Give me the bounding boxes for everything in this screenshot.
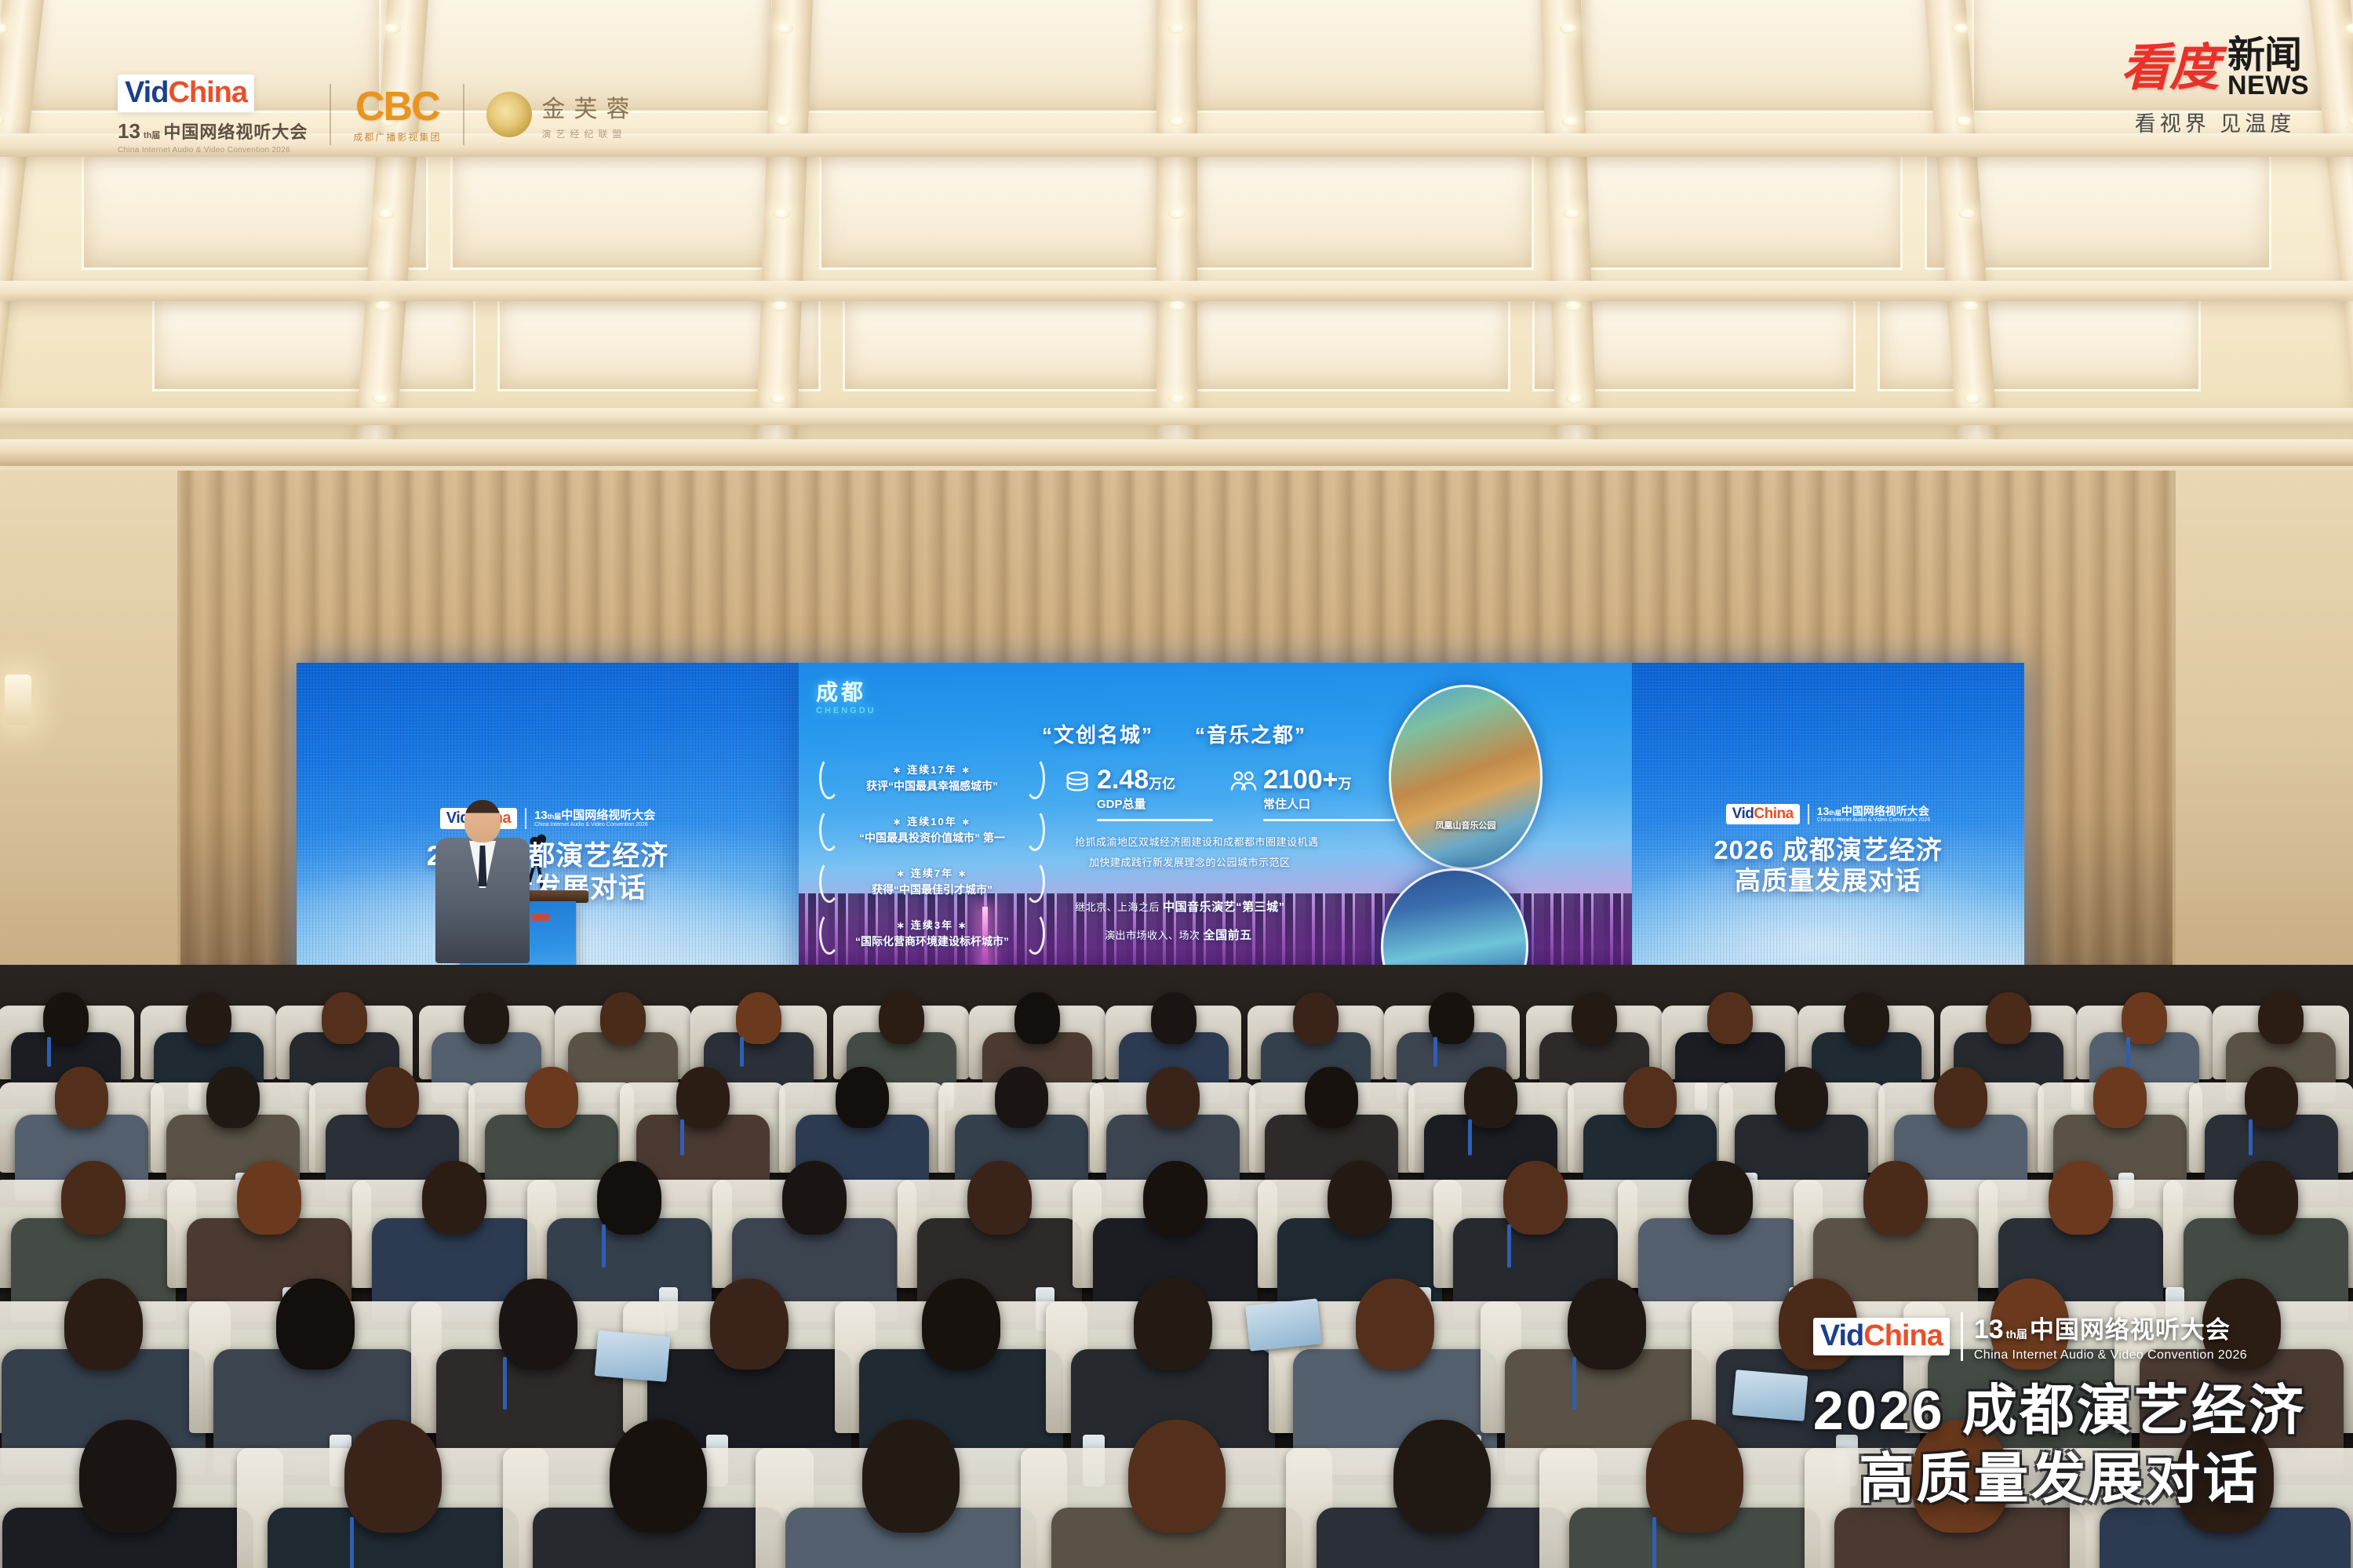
audience-person-head — [55, 1067, 108, 1128]
ceiling-downlight — [1168, 394, 1186, 404]
audience-person-head — [1572, 992, 1617, 1044]
stat-gdp: 2.48万亿 GDP总量 — [1097, 766, 1213, 821]
audience-person-head — [1688, 1161, 1753, 1235]
audience-person-head — [600, 992, 646, 1044]
audience-person-head — [967, 1161, 1032, 1235]
top-left-sponsor-logos: VidChina 13 th届 中国网络视听大会 China Internet … — [118, 75, 638, 155]
stat-gdp-value: 2.48 — [1097, 765, 1149, 795]
ceiling-downlight — [372, 394, 389, 404]
audience-person-head — [1293, 992, 1339, 1044]
chengdu-logo-en: CHENGDU — [816, 707, 876, 715]
cbc-logo-mark: CBC — [355, 86, 439, 127]
bottom-right-edition-ordinal: th届 — [2006, 1326, 2027, 1342]
ceiling-beam-vertical — [1156, 0, 1197, 447]
ceiling-downlight — [776, 24, 793, 34]
speaker-head — [464, 800, 501, 842]
wall-sconce-left — [5, 675, 31, 725]
attendee-laptop — [1732, 1370, 1808, 1421]
ceiling-coffer-panel — [796, 0, 1166, 113]
stat-gdp-label: GDP总量 — [1097, 795, 1213, 812]
audience-person-head — [366, 1067, 419, 1128]
audience-person-head — [879, 992, 924, 1044]
attendee-lanyard — [47, 1037, 51, 1067]
audience-person-head — [2234, 1161, 2298, 1235]
vidchina-convention-en: China Internet Audio & Video Convention … — [118, 146, 290, 155]
vidchina-logo: VidChina — [1813, 1318, 1950, 1355]
audience-person-head — [64, 1279, 143, 1370]
audience-person-head — [525, 1067, 578, 1128]
right-wall-panel — [2173, 471, 2353, 1020]
left-screen-convention-cn: 中国网络视听大会 — [561, 809, 655, 822]
audience-person-head — [322, 992, 367, 1044]
audience-person-head — [464, 992, 509, 1044]
event-title-line1: 2026 成都演艺经济 — [1813, 1377, 2306, 1445]
right-screen-edition-number: 13 — [1817, 805, 1830, 817]
ceiling-downlight — [1168, 116, 1186, 126]
attendee-lanyard — [1572, 1357, 1576, 1410]
attendee-lanyard — [1468, 1119, 1472, 1155]
kandu-news-cn: 新闻 — [2227, 38, 2301, 74]
audience-person-head — [1934, 1067, 1987, 1128]
laurel-wreath-icon — [819, 912, 840, 955]
kandu-tagline: 看视界 见温度 — [2121, 107, 2309, 137]
achievement-name: 获得“中国最佳引才城市” — [814, 882, 1050, 897]
ceiling-downlight — [1563, 209, 1580, 219]
attendee-laptop — [595, 1330, 671, 1382]
ceiling-coffer-panel — [1188, 0, 1558, 113]
cbc-logo-block: CBC 成都广播影视集团 — [353, 86, 441, 144]
audience-person-head — [782, 1161, 847, 1235]
lotus-flower-icon — [486, 92, 532, 137]
audience-person-head — [2245, 1067, 2298, 1128]
ceiling-downlight — [1566, 394, 1583, 404]
ceiling-downlight — [1564, 301, 1582, 311]
audience-person-head — [922, 1279, 1000, 1370]
left-screen-convention-en: China Internet Audio & Video Convention … — [534, 822, 655, 828]
ceiling-downlight — [774, 116, 792, 126]
ceiling-coffer-panel — [843, 294, 1166, 391]
laurel-wreath-icon — [1025, 912, 1045, 955]
audience-person-head — [2258, 992, 2304, 1044]
audience-person-head — [736, 992, 781, 1044]
jinfurong-sub: 演艺经纪联盟 — [541, 127, 638, 140]
audience-person-head — [1128, 1420, 1226, 1533]
ceiling-downlight — [1958, 209, 1976, 219]
laurel-wreath-icon — [1025, 860, 1045, 903]
audience-person-head — [1305, 1067, 1358, 1128]
jinfurong-name: 金芙蓉 — [541, 89, 638, 124]
attendee-lanyard — [1507, 1224, 1511, 1268]
slide-note-2: 加快建成践行新发展理念的公园城市示范区 — [1089, 854, 1291, 869]
vidchina-divider — [1808, 804, 1809, 824]
achievement-years: ∗ 连续10年 ∗ — [814, 813, 1050, 828]
audience-person-head — [1464, 1067, 1517, 1128]
audience-person-head — [836, 1067, 889, 1128]
right-screen-title-line1: 2026 成都演艺经济 — [1632, 835, 2024, 866]
audience-person-head — [186, 992, 231, 1044]
ceiling-downlight — [770, 394, 787, 404]
achievement-item: ∗ 连续7年 ∗获得“中国最佳引才城市” — [814, 865, 1050, 897]
people-group-icon — [1229, 768, 1258, 798]
slide-note-1: 抢抓成渝地区双城经济圈建设和成都都市圈建设机遇 — [1075, 834, 1319, 849]
audience-person-head — [1393, 1420, 1491, 1533]
podium-speaker — [428, 800, 537, 973]
stat-population-underline — [1263, 819, 1395, 821]
left-screen-title-line1: 2026 成都演艺经济 — [297, 840, 799, 872]
vidchina-vid-text: Vid — [125, 78, 168, 107]
achievement-years: ∗ 连续17年 ∗ — [814, 762, 1050, 777]
bottom-right-vidchina-lockup: VidChina 13 th届 中国网络视听大会 China Internet … — [1813, 1310, 2306, 1362]
ceiling-coffer-panel — [1579, 0, 1950, 113]
vidchina-china-text: China — [1863, 1321, 1943, 1351]
ceiling-cornice — [0, 439, 2353, 466]
cbc-logo-sub: 成都广播影视集团 — [353, 130, 441, 144]
audience-person-head — [2049, 1161, 2113, 1235]
ceiling-downlight — [1168, 301, 1186, 311]
bottom-right-event-title-overlay: VidChina 13 th届 中国网络视听大会 China Internet … — [1813, 1310, 2306, 1513]
logo-divider-2 — [463, 84, 464, 145]
attendee-lanyard — [602, 1224, 606, 1268]
right-screen-convention-cn: 中国网络视听大会 — [1841, 805, 1929, 817]
audience-person-head — [276, 1279, 355, 1370]
audience-person-head — [1146, 1067, 1200, 1128]
audience-person-head — [1143, 1161, 1207, 1235]
achievement-item: ∗ 连续17年 ∗获评“中国最具幸福感城市” — [814, 762, 1050, 794]
ceiling-coffer-panel — [450, 145, 797, 270]
ceiling-coffer-panel — [1556, 145, 1903, 270]
bottom-right-convention-cn: 中国网络视听大会 — [2030, 1310, 2231, 1345]
vidchina-vid-text: Vid — [1732, 806, 1754, 821]
ceiling-downlight — [1168, 24, 1186, 34]
ceiling-downlight — [1955, 116, 1972, 126]
audience-person-head — [1134, 1279, 1212, 1370]
attendee-lanyard — [1433, 1037, 1437, 1067]
attendee-lanyard — [740, 1037, 744, 1067]
audience-person-head — [1844, 992, 1889, 1044]
vidchina-edition-ordinal: th届 — [144, 129, 160, 141]
achievement-years: ∗ 连续7年 ∗ — [814, 865, 1050, 880]
conference-photo-scene: VidChina 13th届中国网络视听大会 China Internet Au… — [0, 0, 2353, 1568]
center-led-screen: 成都 CHENGDU “文创名城” “音乐之都” ∗ 连续17年 ∗获评“中国最… — [799, 663, 1632, 992]
right-screen-title-line2: 高质量发展对话 — [1632, 866, 2024, 897]
laurel-wreath-icon — [1025, 809, 1045, 851]
vidchina-edition-number: 13 — [118, 119, 140, 144]
vidchina-china-text: China — [1754, 806, 1793, 821]
vidchina-logo: VidChina — [118, 75, 254, 112]
bottom-right-edition-number: 13 — [1974, 1315, 2004, 1345]
ceiling-downlight — [773, 209, 790, 219]
kandu-news-watermark: 看度 新闻 NEWS 看视界 见温度 — [2121, 38, 2309, 137]
audience-person-head — [1328, 1161, 1392, 1235]
left-screen-vidchina-lockup: VidChina 13th届中国网络视听大会 China Internet Au… — [297, 808, 799, 829]
attendee-lanyard — [2249, 1119, 2253, 1155]
kandu-logo-cn: 看度 — [2121, 44, 2218, 92]
bottom-right-logo-divider — [1961, 1312, 1963, 1361]
audience-person-head — [499, 1279, 577, 1370]
ceiling-downlight — [771, 301, 789, 311]
ceiling-coffer-panel — [1188, 145, 1535, 270]
audience-person-head — [1986, 992, 2031, 1044]
audience-person-head — [1646, 1420, 1743, 1533]
audience-person-head — [344, 1420, 442, 1533]
attendee-lanyard — [350, 1517, 354, 1568]
ceiling-coffer-panel — [152, 294, 475, 391]
ceiling-coffer-panel — [1188, 294, 1511, 391]
audience-person-head — [1623, 1067, 1677, 1128]
vidchina-logo-block: VidChina 13 th届 中国网络视听大会 China Internet … — [118, 75, 308, 155]
achievement-name: “国际化营商环境建设标杆城市” — [814, 933, 1050, 949]
stat-gdp-unit: 万亿 — [1149, 777, 1175, 791]
audience-person-head — [1151, 992, 1197, 1044]
coins-stack-icon — [1062, 768, 1092, 798]
attendee-lanyard — [1652, 1517, 1656, 1568]
logo-divider-1 — [330, 84, 331, 145]
attendee-lanyard — [503, 1357, 507, 1410]
chengdu-city-logo: 成都 CHENGDU — [816, 682, 876, 715]
achievement-item: ∗ 连续10年 ∗“中国最具投资价值城市” 第一 — [814, 813, 1050, 846]
bottom-right-convention-en: China Internet Audio & Video Convention … — [1974, 1348, 2247, 1362]
slide-music-line-1: 继北京、上海之后 中国音乐演艺“第三城” — [1075, 898, 1285, 915]
vidchina-china-text: China — [168, 78, 247, 107]
audience-person-head — [237, 1161, 301, 1235]
right-screen-convention-en: China Internet Audio & Video Convention … — [1817, 817, 1931, 824]
audience-person-head — [61, 1161, 126, 1235]
ceiling-beam-horizontal — [0, 408, 2353, 425]
ceiling-beam-horizontal — [0, 281, 2353, 301]
laurel-wreath-icon — [1025, 757, 1045, 799]
audience-person-head — [206, 1067, 260, 1128]
ceiling-coffer-panel — [1878, 294, 2201, 391]
stat-population-value: 2100+ — [1263, 765, 1339, 795]
audience-person-head — [610, 1420, 707, 1533]
audience-person-head — [2093, 1067, 2147, 1128]
ceiling-downlight — [1952, 24, 1969, 34]
slide-headline-cultural-city: “文创名城” — [1042, 719, 1153, 748]
stat-gdp-underline — [1097, 819, 1213, 821]
attendee-lanyard — [680, 1119, 684, 1155]
left-screen-edition-ordinal: th届 — [548, 813, 562, 820]
laurel-wreath-icon — [819, 860, 840, 903]
audience-person-head — [1503, 1161, 1568, 1235]
vidchina-logo: VidChina — [1726, 804, 1800, 824]
right-screen-vidchina-lockup: VidChina 13th届中国网络视听大会 China Internet Au… — [1632, 804, 2024, 824]
achievement-item: ∗ 连续3年 ∗“国际化营商环境建设标杆城市” — [814, 917, 1050, 949]
left-wall-panel — [0, 471, 180, 1020]
chengdu-logo-cn: 成都 — [816, 682, 876, 704]
audience-person-head — [1707, 992, 1753, 1044]
photo-caption-1: 凤凰山音乐公园 — [1391, 819, 1540, 831]
audience-person-head — [597, 1161, 661, 1235]
attendee-laptop — [1245, 1298, 1322, 1351]
audience-person-head — [676, 1067, 730, 1128]
vidchina-convention-cn-row: 13 th届 中国网络视听大会 — [118, 118, 308, 144]
jinfurong-logo-block: 金芙蓉 演艺经纪联盟 — [486, 89, 638, 140]
slide-music-line-2-strong: 全国前五 — [1204, 929, 1252, 942]
audience-person-head — [1775, 1067, 1828, 1128]
right-led-screen: VidChina 13th届中国网络视听大会 China Internet Au… — [1632, 663, 2024, 992]
attendee-lanyard — [2126, 1037, 2130, 1067]
ceiling-coffer-panel — [819, 145, 1166, 270]
achievement-name: “中国最具投资价值城市” 第一 — [814, 830, 1050, 846]
audience-person-head — [1863, 1161, 1928, 1235]
audience-person-head — [1014, 992, 1060, 1044]
audience-person-head — [995, 1067, 1048, 1128]
achievement-name: 获评“中国最具幸福感城市” — [814, 778, 1050, 794]
audience-person-head — [79, 1420, 177, 1533]
laurel-wreath-icon — [819, 809, 840, 851]
vidchina-convention-cn: 中国网络视听大会 — [163, 118, 308, 144]
right-screen-edition-ordinal: th届 — [1829, 809, 1841, 817]
audience-person-head — [43, 992, 89, 1044]
stat-population: 2100+万 常住人口 — [1263, 766, 1395, 821]
audience-person-head — [1356, 1279, 1434, 1370]
kandu-news-en: NEWS — [2227, 72, 2309, 99]
event-title-line2: 高质量发展对话 — [1813, 1445, 2306, 1513]
audience-person-head — [862, 1420, 960, 1533]
chengdu-presentation-slide: 成都 CHENGDU “文创名城” “音乐之都” ∗ 连续17年 ∗获评“中国最… — [799, 663, 1632, 992]
ceiling-downlight — [384, 24, 401, 34]
laurel-wreath-icon — [819, 757, 840, 799]
ceiling-downlight — [1168, 209, 1186, 219]
achievement-years: ∗ 连续3年 ∗ — [814, 917, 1050, 932]
vidchina-vid-text: Vid — [1820, 1321, 1863, 1351]
audience-person-head — [710, 1279, 789, 1370]
ceiling-downlight — [1961, 301, 1979, 311]
audience-person-head — [422, 1161, 486, 1235]
stat-population-unit: 万 — [1339, 777, 1352, 791]
stat-population-label: 常住人口 — [1263, 795, 1395, 812]
slide-music-line-1-strong: 中国音乐演艺“第三城” — [1163, 900, 1285, 914]
phoenix-mountain-music-park-photo: 凤凰山音乐公园 — [1389, 685, 1543, 870]
slide-music-line-2: 演出市场收入、场次 全国前五 — [1105, 926, 1252, 943]
slide-music-line-1-lead: 继北京、上海之后 — [1075, 901, 1160, 913]
slide-music-line-2-lead: 演出市场收入、场次 — [1105, 930, 1200, 941]
audience-person-head — [1568, 1279, 1646, 1370]
slide-headline-music-capital: “音乐之都” — [1195, 719, 1306, 748]
